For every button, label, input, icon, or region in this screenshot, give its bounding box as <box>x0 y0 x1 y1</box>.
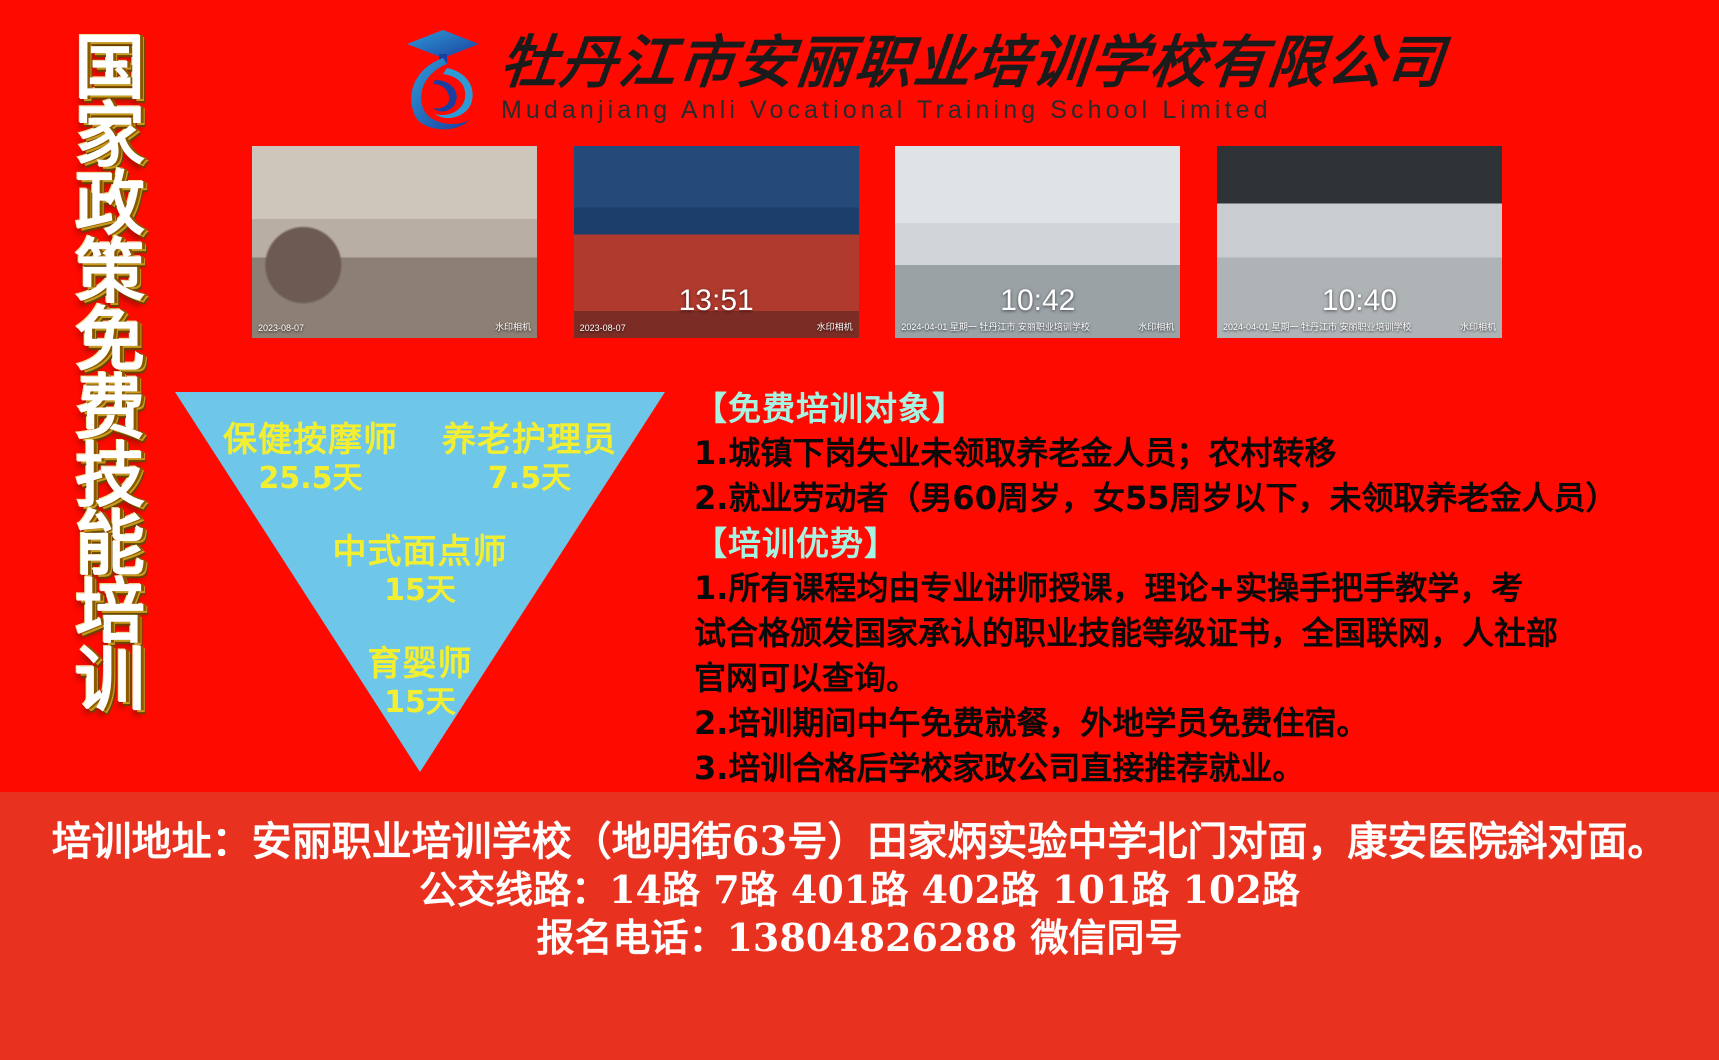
enrollment-phone: 报名电话：13804826288 微信同号 <box>0 914 1719 962</box>
info-line: 2.就业劳动者（男60周岁，女55周岁以下，未领取养老金人员） <box>694 476 1704 521</box>
photo-date-stamp: 2023-08-07 <box>580 323 626 333</box>
photo-lecture-room-training: 10:40 2024-04-01 星期一 牡丹江市 安丽职业培训学校 水印相机 <box>1217 146 1502 338</box>
photo-time-stamp: 13:51 <box>679 284 754 318</box>
company-name-en: Mudanjiang Anli Vocational Training Scho… <box>501 95 1445 125</box>
header: 牡丹江市安丽职业培训学校有限公司 Mudanjiang Anli Vocatio… <box>395 18 1315 140</box>
company-names: 牡丹江市安丽职业培训学校有限公司 Mudanjiang Anli Vocatio… <box>501 33 1445 125</box>
vertical-headline-char: 国 <box>75 34 145 102</box>
vertical-headline-char: 能 <box>75 510 145 578</box>
training-address: 培训地址：安丽职业培训学校（地明街63号）田家炳实验中学北门对面，康安医院斜对面… <box>0 818 1719 866</box>
triangle-course-list: 保健按摩师 25.5天 养老护理员 7.5天 中式面点师 15天 育婴师 <box>175 392 665 772</box>
photo-classroom-group-banner: 13:51 2023-08-07 水印相机 <box>574 146 859 338</box>
photo-date-stamp: 2023-08-07 <box>258 323 304 333</box>
bus-routes: 公交线路：14路 7路 401路 402路 101路 102路 <box>0 866 1719 914</box>
photo-watermark-label: 水印相机 <box>495 320 531 333</box>
vertical-headline-char: 培 <box>75 578 145 646</box>
section-heading-training-advantages: 【培训优势】 <box>694 521 1704 566</box>
info-line: 官网可以查询。 <box>694 656 1704 701</box>
info-block: 【免费培训对象】 1.城镇下岗失业未领取养老金人员；农村转移 2.就业劳动者（男… <box>694 386 1704 791</box>
photo-date-stamp: 2024-04-01 星期一 牡丹江市 安丽职业培训学校 <box>901 320 1090 333</box>
info-line: 1.所有课程均由专业讲师授课，理论+实操手把手教学，考 <box>694 566 1704 611</box>
section-heading-free-training-targets: 【免费培训对象】 <box>694 386 1704 431</box>
photo-date-stamp: 2024-04-01 星期一 牡丹江市 安丽职业培训学校 <box>1223 320 1412 333</box>
course-name: 育婴师 <box>368 644 473 684</box>
photo-watermark-label: 水印相机 <box>1138 320 1174 333</box>
vertical-headline-char: 训 <box>75 646 145 714</box>
vertical-headline-char: 策 <box>75 238 145 306</box>
course-duration: 25.5天 <box>258 460 362 498</box>
course-item: 中式面点师 15天 <box>175 532 665 610</box>
contact-banner: 培训地址：安丽职业培训学校（地明街63号）田家炳实验中学北门对面，康安医院斜对面… <box>0 792 1719 1060</box>
info-line: 试合格颁发国家承认的职业技能等级证书，全国联网，人社部 <box>694 611 1704 656</box>
vertical-headline-char: 免 <box>75 306 145 374</box>
photo-watermark-label: 水印相机 <box>817 320 853 333</box>
info-line: 3.培训合格后学校家政公司直接推荐就业。 <box>694 746 1704 791</box>
photo-pastry-kitchen-class: 2023-08-07 水印相机 <box>252 146 537 338</box>
photo-time-stamp: 10:40 <box>1322 284 1397 318</box>
photo-watermark-label: 水印相机 <box>1460 320 1496 333</box>
graduation-cap-logo-icon <box>395 24 491 134</box>
vertical-headline: 国 家 政 策 免 费 技 能 培 训 <box>62 34 158 714</box>
course-item: 保健按摩师 25.5天 <box>213 420 408 498</box>
course-duration: 7.5天 <box>488 460 571 498</box>
poster-root: 国 家 政 策 免 费 技 能 培 训 <box>0 0 1719 1060</box>
info-line: 2.培训期间中午免费就餐，外地学员免费住宿。 <box>694 701 1704 746</box>
course-name: 保健按摩师 <box>223 420 398 460</box>
company-name-cn: 牡丹江市安丽职业培训学校有限公司 <box>498 33 1448 93</box>
photo-strip: 2023-08-07 水印相机 13:51 2023-08-07 水印相机 10… <box>252 146 1502 338</box>
photo-elderly-care-practice: 10:42 2024-04-01 星期一 牡丹江市 安丽职业培训学校 水印相机 <box>895 146 1180 338</box>
vertical-headline-char: 费 <box>75 374 145 442</box>
course-item: 养老护理员 7.5天 <box>432 420 627 498</box>
info-line: 1.城镇下岗失业未领取养老金人员；农村转移 <box>694 431 1704 476</box>
course-duration: 15天 <box>384 572 456 610</box>
course-triangle: 保健按摩师 25.5天 养老护理员 7.5天 中式面点师 15天 育婴师 <box>175 392 665 772</box>
course-name: 养老护理员 <box>442 420 617 460</box>
vertical-headline-char: 技 <box>75 442 145 510</box>
photo-time-stamp: 10:42 <box>1000 284 1075 318</box>
course-name: 中式面点师 <box>333 532 508 572</box>
vertical-headline-char: 家 <box>75 102 145 170</box>
vertical-headline-char: 政 <box>75 170 145 238</box>
course-item: 育婴师 15天 <box>175 644 665 722</box>
course-duration: 15天 <box>384 684 456 722</box>
